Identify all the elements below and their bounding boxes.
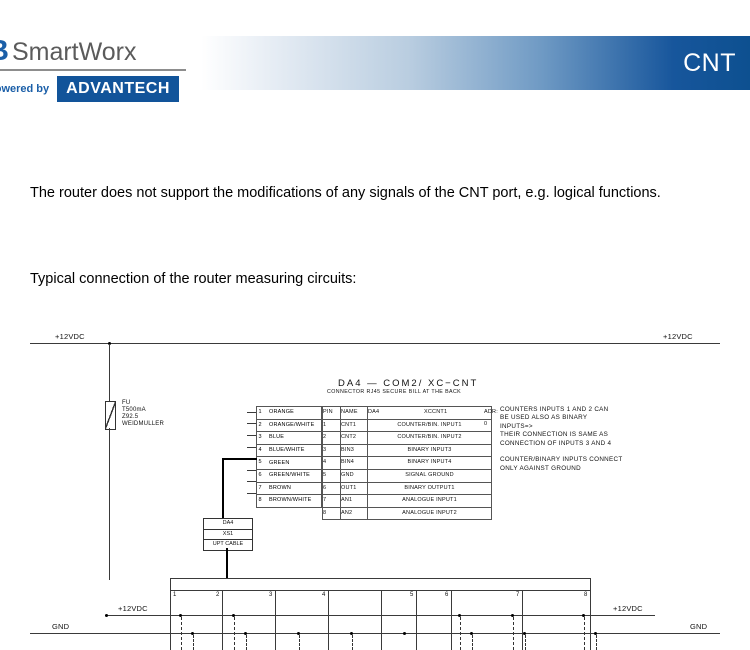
column-separator [522,590,523,650]
column-separator [381,590,382,650]
fuse-lead-top [109,344,110,401]
header-name: NAME [341,407,368,420]
cell-pin: 3 [323,444,341,457]
gnd-lead-dashed [352,635,353,650]
wire-name: ORANGE/WHITE [269,422,314,428]
table-row: 1CNT1COUNTER/BIN. INPUT1 [323,419,492,432]
column-number: 3 [269,592,272,598]
ground-branch-vertical [222,458,224,519]
wire-row: 4BLUE/WHITE [256,444,322,457]
cell-pin: 5 [323,469,341,482]
column-number: 2 [216,592,219,598]
leader-tick [247,447,256,448]
wire-name: BLUE/WHITE [269,447,305,453]
advantech-logo: ADVANTECH [57,76,179,102]
fuse-label-vendor: WEIDMULLER [122,421,164,427]
cell-desc: COUNTER/BIN. INPUT1 [368,419,492,432]
paragraph-typical-connection: Typical connection of the router measuri… [30,268,722,290]
cable-box: DA4 XS1 UPT CABLE [203,518,253,551]
table-row: 5GNDSIGNAL GROUND [323,469,492,482]
brand-mark-letter: B [0,37,8,66]
wire-name: BLUE [269,434,284,440]
cable-box-xs1: XS1 [204,530,252,541]
table-row: 2CNT2COUNTER/BIN. INPUT2 [323,432,492,445]
rail-top-right-label: +12VDC [663,332,693,341]
gnd-right-label: GND [690,622,707,631]
leader-tick [247,412,256,413]
leader-tick [247,435,256,436]
table-row: 7AN1ANALOGUE INPUT1 [323,495,492,508]
cell-name: CNT2 [341,432,368,445]
wire-row: 1ORANGE [256,406,322,419]
device-lead-dashed [234,617,235,650]
cell-name: OUT1 [341,482,368,495]
fuse-lead-bottom [109,428,110,580]
wire-row: 3BLUE [256,431,322,444]
cable-box-lead [226,548,228,578]
paragraph-cnt-limitation: The router does not support the modifica… [30,182,722,204]
cell-desc: SIGNAL GROUND [368,469,492,482]
busbar-left-edge [170,578,171,650]
cell-pin: 2 [323,432,341,445]
ground-branch-horizontal [222,458,257,460]
header-desc: DA4 XCCNT1 ADR: 0 [368,407,492,420]
leader-tick [247,481,256,482]
table-row: 6OUT1BINARY OUTPUT1 [323,482,492,495]
table-row: 8AN2ANALOGUE INPUT2 [323,507,492,520]
smartworx-brand: B SmartWorx powered by ADVANTECH [0,34,201,102]
cell-name: AN1 [341,495,368,508]
wire-num: 8 [259,497,262,503]
header-da4: DA4 [368,409,379,415]
cell-name: GND [341,469,368,482]
cell-desc: BINARY INPUT3 [368,444,492,457]
column-separator [275,590,276,650]
pin-assignment-table: PIN NAME DA4 XCCNT1 ADR: 0 1CNT1COUNTER/… [322,406,492,520]
wire-row: 2ORANGE/WHITE [256,419,322,432]
fuse-label-fu: FU [122,400,130,406]
gnd-lead-dashed [525,635,526,650]
page-title: CNT [683,50,736,77]
wire-name: GREEN/WHITE [269,472,310,478]
brand-name-text: SmartWorx [12,39,137,66]
brand-divider [0,69,186,71]
column-number: 6 [445,592,448,598]
wire-color-table: 1ORANGE 2ORANGE/WHITE 3BLUE 4BLUE/WHITE … [256,406,322,508]
rail-top-12vdc [30,343,720,344]
wire-row: 6GREEN/WHITE [256,469,322,482]
device-lead-dashed [460,617,461,650]
table-row: 3BIN3BINARY INPUT3 [323,444,492,457]
wire-name: ORANGE [269,409,294,415]
cell-pin: 8 [323,507,341,520]
powered-by-row: powered by ADVANTECH [0,76,201,102]
powered-by-label: powered by [0,83,49,95]
cell-desc: BINARY OUTPUT1 [368,482,492,495]
column-number: 1 [173,592,176,598]
fuse-label-type: Z92.5 [122,414,138,420]
diagram-note: COUNTERS INPUTS 1 AND 2 CAN BE USED ALSO… [500,406,623,473]
wire-name: BROWN [269,485,291,491]
cable-box-type: UPT CABLE [204,540,252,550]
cell-desc: COUNTER/BIN. INPUT2 [368,432,492,445]
column-separator [328,590,329,650]
wire-num: 3 [259,434,262,440]
gnd-lead-dashed [472,635,473,650]
header-pin: PIN [323,407,341,420]
rail-top-left-label: +12VDC [55,332,85,341]
cell-name: BIN4 [341,457,368,470]
wire-num: 6 [259,472,262,478]
column-number: 7 [516,592,519,598]
wiring-schematic: +12VDC +12VDC FU T500mA Z92.5 WEIDMULLER… [0,318,750,650]
junction-dot [105,614,108,617]
cell-desc: ANALOGUE INPUT1 [368,495,492,508]
rail-bottom-left-label: +12VDC [118,604,148,613]
rail-bottom-12vdc [105,615,655,616]
rail-bottom-right-label: +12VDC [613,604,643,613]
wire-num: 5 [259,459,262,465]
device-lead-dashed [513,617,514,650]
wire-row: 7BROWN [256,482,322,495]
brand-wordmark: B SmartWorx [0,34,201,66]
cell-name: BIN3 [341,444,368,457]
cell-pin: 4 [323,457,341,470]
column-separator [416,590,417,650]
busbar-divider [170,590,590,591]
wire-row: 8BROWN/WHITE [256,494,322,508]
gnd-tap-dot [403,632,406,635]
wire-num: 4 [259,447,262,453]
fuse-symbol [105,401,116,430]
fuse-label-current: T500mA [122,407,146,413]
wire-name: GREEN [269,460,290,466]
gnd-lead-dashed [246,635,247,650]
cell-pin: 7 [323,495,341,508]
cell-desc: BINARY INPUT4 [368,457,492,470]
cell-name: AN2 [341,507,368,520]
column-number: 4 [322,592,325,598]
busbar-right-edge [590,578,591,650]
gnd-lead-dashed [299,635,300,650]
column-number: 8 [584,592,587,598]
cell-desc: ANALOGUE INPUT2 [368,507,492,520]
busbar-top [170,578,590,579]
gnd-lead-dashed [193,635,194,650]
gnd-left-label: GND [52,622,69,631]
wire-num: 2 [259,422,262,428]
cable-box-da4: DA4 [204,519,252,530]
leader-tick [247,470,256,471]
header-xccnt1: XCCNT1 [424,407,447,419]
rail-gnd [30,633,720,634]
column-separator [451,590,452,650]
cell-pin: 1 [323,419,341,432]
page-header: B SmartWorx powered by ADVANTECH CNT [0,0,750,110]
leader-tick [247,423,256,424]
cell-name: CNT1 [341,419,368,432]
gnd-lead-dashed [596,635,597,650]
wire-name: BROWN/WHITE [269,497,312,503]
table-row: 4BIN4BINARY INPUT4 [323,457,492,470]
column-separator [222,590,223,650]
device-lead-dashed [181,617,182,650]
header-banner [201,36,750,90]
wire-num: 7 [259,485,262,491]
device-lead-dashed [584,617,585,650]
leader-tick [247,493,256,494]
cell-pin: 6 [323,482,341,495]
diagram-title: DA4 — COM2/ XC−CNT [338,378,478,389]
header-adr: ADR: 0 [484,407,498,430]
diagram-subtitle: CONNECTOR RJ45 SECURE BILL AT THE BACK [327,389,461,395]
wire-num: 1 [259,409,262,415]
wire-row: 5GREEN [256,456,322,469]
column-number: 5 [410,592,413,598]
table-header-row: PIN NAME DA4 XCCNT1 ADR: 0 [323,407,492,420]
